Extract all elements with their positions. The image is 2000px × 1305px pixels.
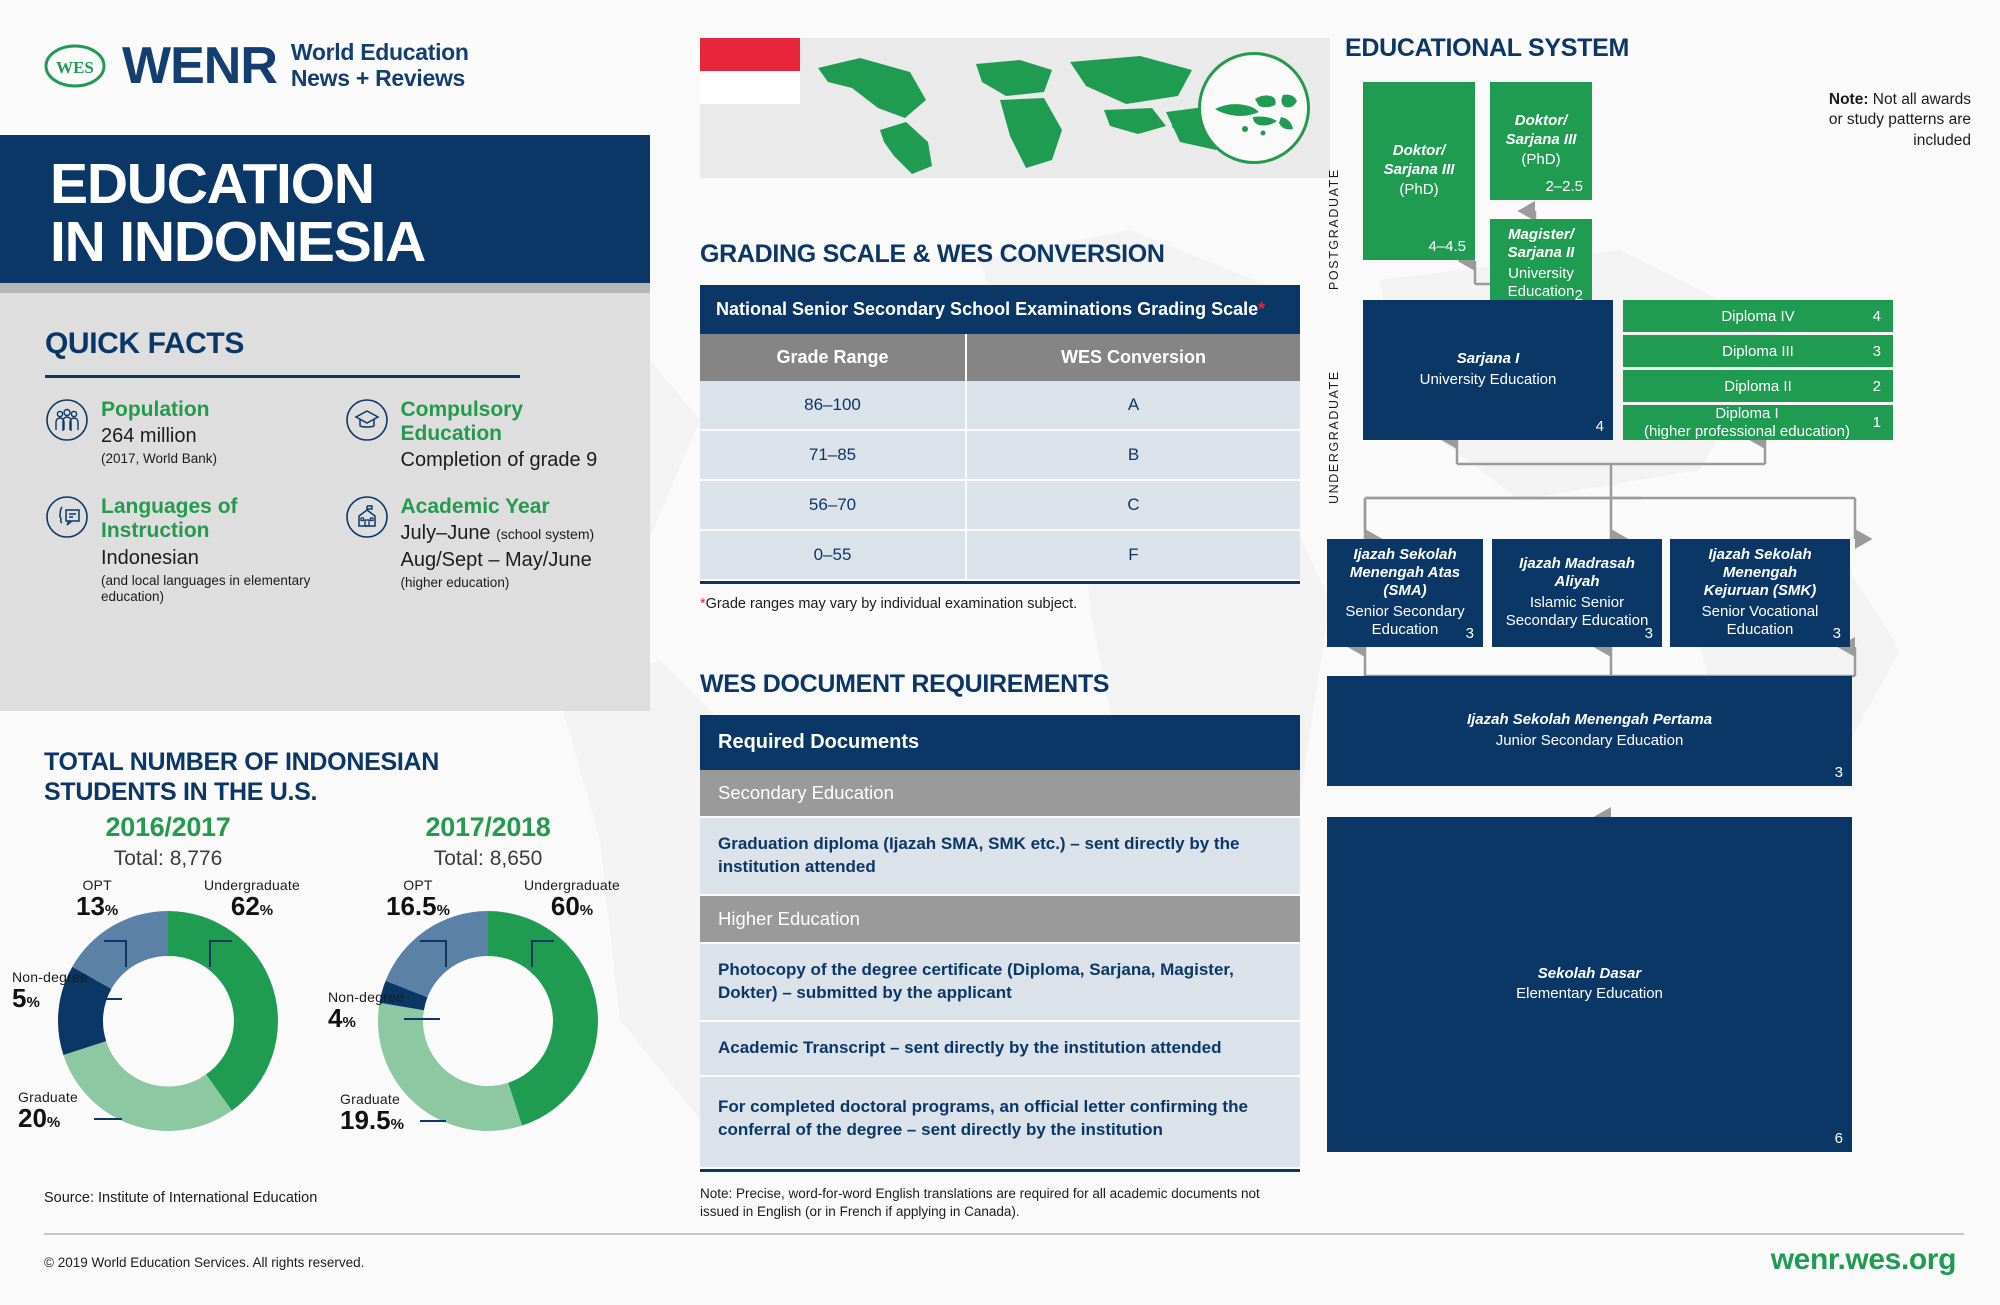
system-box-doktor-left: Doktor/Sarjana III (PhD) 4–4.5 <box>1363 82 1475 260</box>
box-italic-title: Doktor/Sarjana III <box>1384 142 1455 179</box>
grade-range-cell: 86–100 <box>700 381 966 430</box>
box-italic-title: Sekolah Dasar <box>1538 965 1641 983</box>
footnote-text: Grade ranges may vary by individual exam… <box>706 596 1078 612</box>
quick-fact-value: July–June <box>401 522 491 544</box>
donut-label-undergraduate: Undergraduate 62% <box>204 877 300 919</box>
donut-total: Total: 8,650 <box>328 847 648 871</box>
documents-table-underline <box>700 1169 1300 1172</box>
documents-table: Required Documents Secondary Education G… <box>700 715 1300 1172</box>
box-italic-title: Ijazah Madrasah Aliyah <box>1500 555 1654 592</box>
diploma-label: Diploma I(higher professional education) <box>1644 405 1850 440</box>
diploma-years: 1 <box>1873 414 1881 432</box>
grading-scale-section: GRADING SCALE & WES CONVERSION National … <box>700 240 1300 612</box>
documents-table-header: Required Documents <box>700 715 1300 770</box>
grade-range-cell: 0–55 <box>700 530 966 580</box>
donut-label-value: 62% <box>204 893 300 919</box>
donut-label-undergraduate: Undergraduate 60% <box>524 877 620 919</box>
system-box-doktor-right: Doktor/Sarjana III (PhD) 2–2.5 <box>1490 82 1592 200</box>
footer-divider <box>44 1233 1964 1235</box>
grading-table-caption-row: National Senior Secondary School Examina… <box>700 285 1300 334</box>
table-row: 86–100 A <box>700 381 1300 430</box>
page-title-line2: IN INDONESIA <box>50 213 650 271</box>
school-building-icon <box>345 495 389 539</box>
population-icon <box>45 398 89 442</box>
donut-label-value: 60% <box>524 893 620 919</box>
donut-label-value: 4% <box>328 1005 404 1031</box>
box-years: 6 <box>1835 1130 1843 1147</box>
donut-chart-2016-2017: 2016/2017 Total: 8,776 <box>8 812 328 1192</box>
speech-languages-icon <box>45 495 89 539</box>
donut-label-value: 20% <box>18 1105 78 1131</box>
donut-label-graduate: Graduate 20% <box>18 1089 78 1131</box>
students-chart-section: TOTAL NUMBER OF INDONESIAN STUDENTS IN T… <box>0 720 660 1240</box>
donut-chart-2017-2018: 2017/2018 Total: 8,650 <box>328 812 648 1192</box>
quick-fact-value: 264 million <box>101 424 217 449</box>
quick-fact-note: (2017, World Bank) <box>101 451 217 467</box>
box-plain-title: (PhD) <box>1399 181 1438 200</box>
quick-fact-value-small: (school system) <box>496 526 594 542</box>
students-chart-heading-line1: TOTAL NUMBER OF INDONESIAN <box>44 748 524 778</box>
educational-system-note: Note: Not all awards or study patterns a… <box>1811 90 1971 151</box>
quick-fact-academic-year: Academic Year July–June (school system) … <box>345 495 621 605</box>
quick-facts-heading: QUICK FACTS <box>45 327 620 361</box>
diploma-years: 3 <box>1873 343 1881 360</box>
system-box-smp: Ijazah Sekolah Menengah Pertama Junior S… <box>1327 676 1852 786</box>
wes-logo-icon: WES <box>44 43 106 89</box>
grading-footnote: *Grade ranges may vary by individual exa… <box>700 596 1300 612</box>
quick-fact-label: Languages of Instruction <box>101 495 321 543</box>
wes-conversion-cell: A <box>966 381 1300 430</box>
donut-label-non-degree: Non-degree 4% <box>328 989 404 1031</box>
box-plain-title: Senior VocationalEducation <box>1702 603 1819 641</box>
box-plain-title: Senior SecondaryEducation <box>1345 603 1464 641</box>
graduation-cap-icon <box>345 398 389 442</box>
box-plain-title: Junior Secondary Education <box>1496 732 1684 751</box>
document-item: Photocopy of the degree certificate (Dip… <box>700 944 1300 1022</box>
system-diploma-iii: Diploma III 3 <box>1623 335 1893 367</box>
svg-text:WES: WES <box>56 58 94 77</box>
box-plain-title: Islamic SeniorSecondary Education <box>1506 594 1649 632</box>
system-diploma-ii: Diploma II 2 <box>1623 370 1893 402</box>
box-italic-title: Doktor/Sarjana III <box>1506 112 1577 149</box>
system-box-sd: Sekolah Dasar Elementary Education 6 <box>1327 817 1852 1152</box>
quick-fact-compulsory-education: Compulsory Education Completion of grade… <box>345 398 621 473</box>
donut-label-value: 19.5% <box>340 1107 404 1133</box>
wes-conversion-cell: B <box>966 430 1300 480</box>
grade-range-cell: 56–70 <box>700 480 966 530</box>
box-italic-title: Ijazah SekolahMenengah Atas (SMA) <box>1335 546 1475 601</box>
grading-table-underline <box>700 581 1300 584</box>
system-diploma-iv: Diploma IV 4 <box>1623 300 1893 332</box>
box-plain-title: University Education <box>1420 371 1557 390</box>
box-italic-title: Ijazah Sekolah Menengah Pertama <box>1467 711 1712 729</box>
indonesia-inset-map <box>1198 52 1310 164</box>
grading-scale-heading: GRADING SCALE & WES CONVERSION <box>700 240 1300 269</box>
wes-conversion-cell: F <box>966 530 1300 580</box>
donut-label-value: 5% <box>12 985 88 1011</box>
box-years: 4 <box>1596 418 1604 435</box>
quick-fact-note: (higher education) <box>401 575 595 591</box>
quick-fact-value: Completion of grade 9 <box>401 448 621 473</box>
box-plain-title: (PhD) <box>1521 151 1560 170</box>
note-label: Note: <box>1829 91 1869 108</box>
table-row: 0–55 F <box>700 530 1300 580</box>
students-chart-heading: TOTAL NUMBER OF INDONESIAN STUDENTS IN T… <box>44 748 524 807</box>
donut-label-non-degree: Non-degree 5% <box>12 969 88 1011</box>
donut-year: 2017/2018 <box>328 812 648 843</box>
box-years: 3 <box>1835 764 1843 781</box>
grading-table-header-row: Grade Range WES Conversion <box>700 334 1300 381</box>
donut-total: Total: 8,776 <box>8 847 328 871</box>
educational-system-heading: EDUCATIONAL SYSTEM <box>1345 34 1975 63</box>
box-italic-title: Magister/Sarjana II <box>1508 226 1575 263</box>
documents-note: Note: Precise, word-for-word English tra… <box>700 1185 1300 1223</box>
brand-tagline-line1: World Education <box>291 40 469 66</box>
donut-label-graduate: Graduate 19.5% <box>340 1091 404 1133</box>
grading-scale-table: National Senior Secondary School Examina… <box>700 285 1300 581</box>
caption-asterisk: * <box>1258 299 1265 319</box>
documents-section-label-secondary: Secondary Education <box>700 770 1300 818</box>
diploma-years: 4 <box>1873 308 1881 325</box>
box-years: 2–2.5 <box>1545 178 1583 195</box>
quick-fact-label: Population <box>101 398 217 422</box>
page-title-line1: EDUCATION <box>50 155 650 213</box>
document-item: Academic Transcript – sent directly by t… <box>700 1022 1300 1077</box>
rail-label-undergraduate: UNDERGRADUATE <box>1327 324 1341 504</box>
title-underbar <box>0 283 650 293</box>
grade-range-cell: 71–85 <box>700 430 966 480</box>
brand-header: WES WENR World Education News + Reviews <box>0 0 658 132</box>
grading-table-caption: National Senior Secondary School Examina… <box>716 299 1258 319</box>
quick-fact-note: (and local languages in elementary educa… <box>101 573 321 605</box>
chart-source: Source: Institute of International Educa… <box>44 1190 317 1206</box>
quick-fact-label: Academic Year <box>401 495 595 519</box>
brand-tagline-line2: News + Reviews <box>291 66 469 92</box>
wes-conversion-cell: C <box>966 480 1300 530</box>
wenr-wordmark: WENR <box>122 40 277 92</box>
documents-heading: WES DOCUMENT REQUIREMENTS <box>700 670 1300 699</box>
box-plain-title: Elementary Education <box>1516 985 1663 1004</box>
documents-section: WES DOCUMENT REQUIREMENTS Required Docum… <box>700 670 1300 1222</box>
diploma-label: Diploma IV <box>1721 308 1794 325</box>
diploma-label: Diploma II <box>1724 378 1792 395</box>
map-banner <box>700 38 1330 178</box>
students-chart-heading-line2: STUDENTS IN THE U.S. <box>44 778 524 808</box>
system-box-magister: Magister/Sarjana II University Education… <box>1490 219 1592 309</box>
donut-year: 2016/2017 <box>8 812 328 843</box>
system-diploma-i: Diploma I(higher professional education)… <box>1623 405 1893 440</box>
document-item: Graduation diploma (Ijazah SMA, SMK etc.… <box>700 818 1300 896</box>
footer-copyright: © 2019 World Education Services. All rig… <box>44 1255 364 1270</box>
documents-section-label-higher: Higher Education <box>700 896 1300 944</box>
system-box-madrasah-aliyah: Ijazah Madrasah Aliyah Islamic SeniorSec… <box>1492 539 1662 647</box>
grading-col-grade-range: Grade Range <box>700 334 966 381</box>
quick-fact-value2: Aug/Sept – May/June <box>401 548 595 573</box>
educational-system-section: EDUCATIONAL SYSTEM Note: Not all awards … <box>1345 34 1975 1184</box>
donut-label-opt: OPT 16.5% <box>386 877 450 919</box>
system-box-sma: Ijazah SekolahMenengah Atas (SMA) Senior… <box>1327 539 1483 647</box>
table-row: 56–70 C <box>700 480 1300 530</box>
quick-fact-value: Indonesian <box>101 546 321 571</box>
quick-fact-languages: Languages of Instruction Indonesian (and… <box>45 495 321 605</box>
donut-label-opt: OPT 13% <box>76 877 118 919</box>
system-box-sarjana-1: Sarjana I University Education 4 <box>1363 300 1613 440</box>
quick-fact-label: Compulsory Education <box>401 398 621 446</box>
table-row: 71–85 B <box>700 430 1300 480</box>
footer-url[interactable]: wenr.wes.org <box>1771 1243 1956 1277</box>
box-years: 4–4.5 <box>1428 238 1466 255</box>
donut-label-value: 13% <box>76 893 118 919</box>
box-years: 3 <box>1466 625 1474 642</box>
box-years: 3 <box>1833 625 1841 642</box>
diploma-label: Diploma III <box>1722 343 1794 360</box>
system-box-smk: Ijazah Sekolah MenengahKejuruan (SMK) Se… <box>1670 539 1850 647</box>
infographic-page: WES WENR World Education News + Reviews … <box>0 0 2000 1300</box>
quick-facts-rule <box>45 375 520 378</box>
page-title: EDUCATION IN INDONESIA <box>0 135 650 283</box>
document-item: For completed doctoral programs, an offi… <box>700 1077 1300 1169</box>
donut-label-value: 16.5% <box>386 893 450 919</box>
box-years: 3 <box>1645 625 1653 642</box>
quick-facts-panel: QUICK FACTS Population 264 million (2017… <box>0 293 650 711</box>
quick-fact-population: Population 264 million (2017, World Bank… <box>45 398 321 473</box>
grading-col-wes-conversion: WES Conversion <box>966 334 1300 381</box>
diploma-years: 2 <box>1873 378 1881 395</box>
box-italic-title: Sarjana I <box>1457 350 1520 368</box>
rail-label-postgraduate: POSTGRADUATE <box>1327 120 1341 290</box>
box-italic-title: Ijazah Sekolah MenengahKejuruan (SMK) <box>1678 546 1842 601</box>
